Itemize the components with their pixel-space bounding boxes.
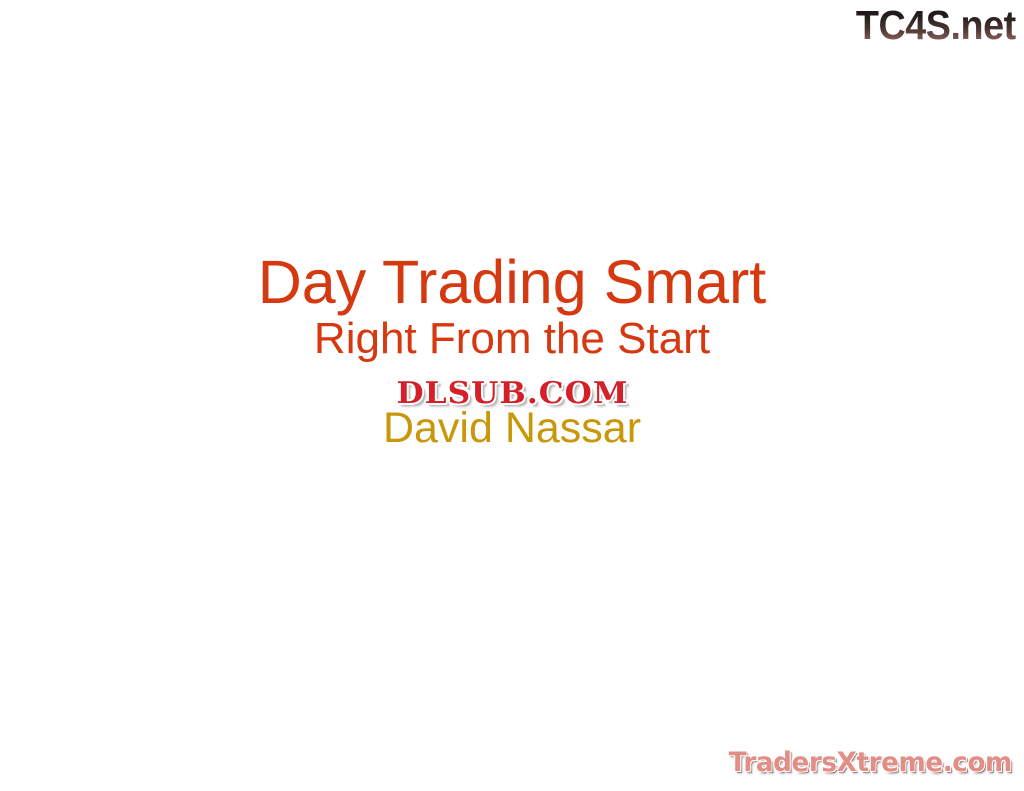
page-title: Day Trading Smart bbox=[0, 248, 1024, 316]
presentation-slide: TC4S.net Day Trading Smart Right From th… bbox=[0, 0, 1024, 791]
title-block: Day Trading Smart Right From the Start D… bbox=[0, 248, 1024, 452]
tc4s-net-logo: TC4S.net bbox=[856, 2, 1016, 48]
author-name: David Nassar bbox=[0, 404, 1024, 452]
tradersxtreme-com-watermark: TradersXtreme.com bbox=[729, 747, 1012, 779]
page-subtitle: Right From the Start bbox=[0, 314, 1024, 364]
